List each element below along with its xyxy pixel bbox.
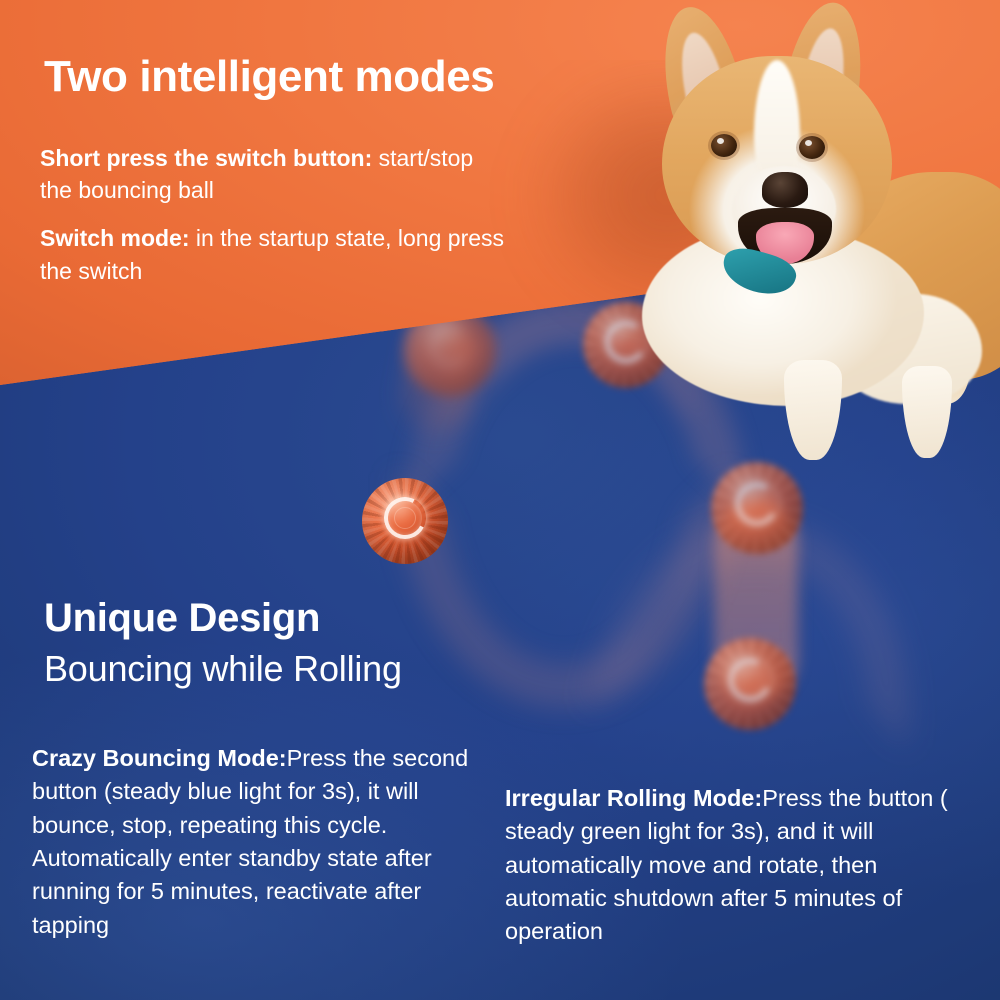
dog-nose xyxy=(762,172,808,208)
mode-bullet-short-press-lead: Short press the switch button: xyxy=(40,145,372,171)
ball-product-sharp xyxy=(362,478,448,564)
dog-eye-right xyxy=(799,136,825,159)
dog-eye-left xyxy=(711,134,737,157)
crazy-bouncing-mode-paragraph: Crazy Bouncing Mode:Press the second but… xyxy=(32,742,484,942)
ball-ghost-right-bottom xyxy=(704,638,796,730)
section-title-unique-design: Unique Design xyxy=(44,596,320,641)
c-ring-inner-icon xyxy=(394,507,416,529)
dog-front-paw xyxy=(784,360,842,460)
corgi-dog-photo xyxy=(636,0,1000,464)
product-feature-image: Two intelligent modes Short press the sw… xyxy=(0,0,1000,1000)
c-ring-inner-icon xyxy=(440,336,461,357)
mode-bullet-short-press: Short press the switch button: start/sto… xyxy=(40,142,510,206)
c-ring-inner-icon xyxy=(739,669,761,691)
irregular-rolling-mode-paragraph: Irregular Rolling Mode:Press the button … xyxy=(505,782,975,949)
page-title: Two intelligent modes xyxy=(44,52,494,102)
section-subtitle-bouncing-while-rolling: Bouncing while Rolling xyxy=(44,648,402,690)
mode-bullet-switch-mode: Switch mode: in the startup state, long … xyxy=(40,222,510,286)
c-ring-inner-icon xyxy=(746,493,768,515)
ball-ghost-right-top xyxy=(711,462,803,554)
irregular-rolling-mode-lead: Irregular Rolling Mode: xyxy=(505,785,762,811)
dog-back-paw xyxy=(902,366,952,458)
crazy-bouncing-mode-text: Press the second button (steady blue lig… xyxy=(32,745,468,938)
modes-description-block: Short press the switch button: start/sto… xyxy=(40,142,510,303)
crazy-bouncing-mode-lead: Crazy Bouncing Mode: xyxy=(32,745,287,771)
mode-bullet-switch-mode-lead: Switch mode: xyxy=(40,225,190,251)
